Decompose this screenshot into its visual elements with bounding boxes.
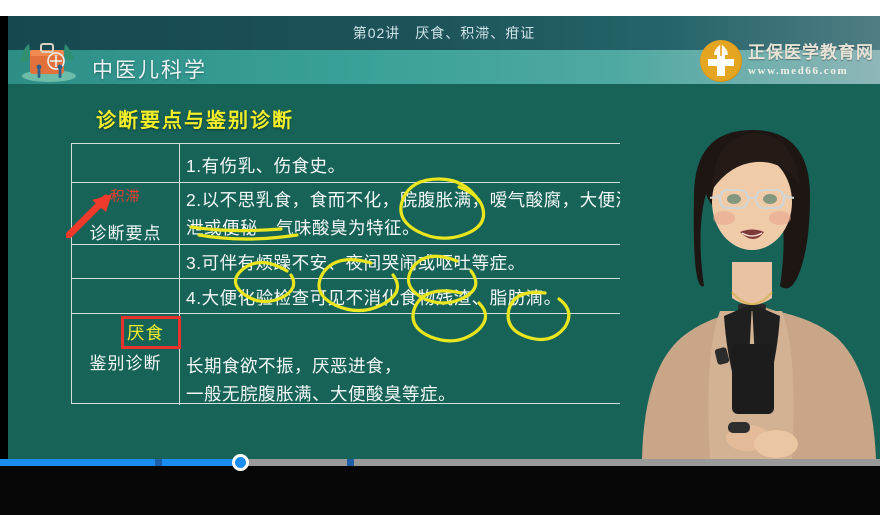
table-cell-item-3: 3.可伴有烦躁不安、夜间哭闹或呕吐等症。 xyxy=(186,249,636,277)
top-white-strip xyxy=(0,0,880,16)
video-player-page: 第02讲 厌食、积滞、疳证 中医儿科学 xyxy=(0,0,880,515)
table-row-divider xyxy=(72,182,642,183)
medical-bag-icon xyxy=(16,36,82,82)
progress-track[interactable] xyxy=(0,459,880,466)
table-cell-item-1: 1.有伤乳、伤食史。 xyxy=(186,152,636,180)
chapter-marker[interactable] xyxy=(155,459,162,466)
cross-circle-logo-icon xyxy=(700,40,742,82)
progress-fill xyxy=(0,459,240,466)
table-cell-diff-2: 一般无脘腹胀满、大便酸臭等症。 xyxy=(186,380,636,408)
table-row-label-differential: 鉴别诊断 xyxy=(72,349,179,374)
table-cell-diff-1: 长期食欲不振，厌恶进食， xyxy=(186,352,636,380)
chapter-marker[interactable] xyxy=(347,459,354,466)
table-row-divider xyxy=(72,278,642,279)
brand-text-block: 正保医学教育网 www.med66.com xyxy=(748,38,878,77)
left-black-rail xyxy=(0,16,8,459)
course-name: 中医儿科学 xyxy=(92,54,207,84)
instructor-video-figure xyxy=(620,86,880,459)
slide-title: 诊断要点与鉴别诊断 xyxy=(96,104,294,133)
brand-name: 正保医学教育网 xyxy=(748,38,878,63)
highlight-yanshi-label: 厌食 xyxy=(127,320,164,345)
table-column-divider xyxy=(179,144,180,405)
brand-logo: 正保医学教育网 www.med66.com xyxy=(700,38,878,84)
brand-url: www.med66.com xyxy=(748,65,878,77)
diagnosis-table: 积滞 诊断要点 鉴别诊断 1.有伤乳、伤食史。 2.以不思乳食，食而不化，脘腹胀… xyxy=(71,143,641,404)
table-row-divider xyxy=(72,313,642,314)
red-arrow-icon xyxy=(66,194,122,238)
progress-handle[interactable] xyxy=(232,454,249,471)
video-stage[interactable]: 第02讲 厌食、积滞、疳证 中医儿科学 xyxy=(8,16,880,459)
table-cell-item-2: 2.以不思乳食，食而不化，脘腹胀满，嗳气酸腐，大便溏泄或便秘 气味酸臭为特征。 xyxy=(186,186,636,242)
table-cell-item-4: 4.大便化验检查可见不消化食物残渣、脂肪滴。 xyxy=(186,284,636,312)
table-row-divider xyxy=(72,244,642,245)
player-control-bar[interactable]: 11:31 / 40:40 老师 1.0 X 超清 xyxy=(0,459,880,515)
